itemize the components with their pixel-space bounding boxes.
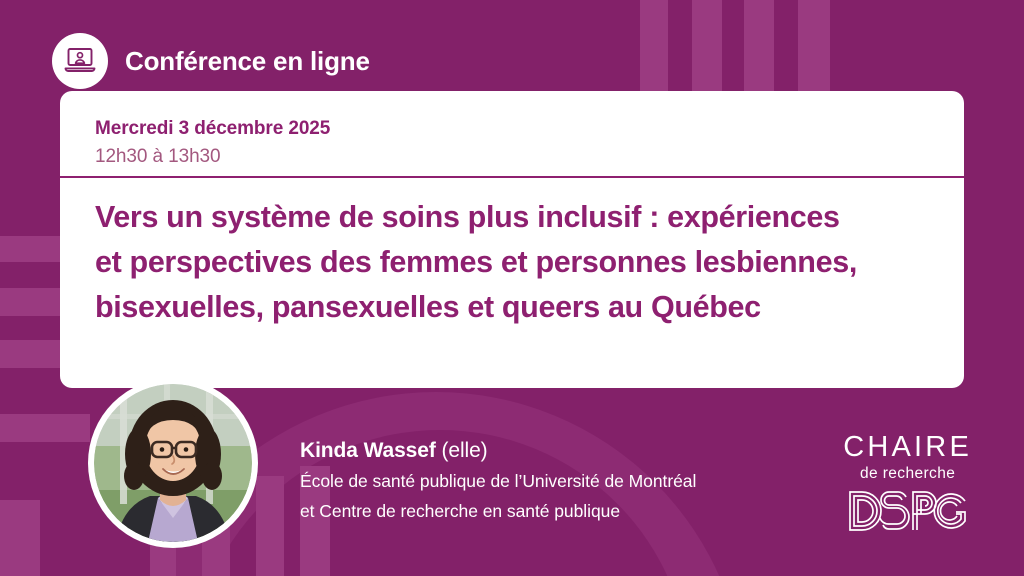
event-banner: Conférence en ligne Mercredi 3 décembre … xyxy=(0,0,1024,576)
event-title: Vers un système de soins plus inclusif :… xyxy=(95,195,934,330)
bg-vertical-stripe xyxy=(798,0,830,104)
speaker-name-line: Kinda Wassef (elle) xyxy=(300,437,696,465)
event-card: Mercredi 3 décembre 2025 12h30 à 13h30 V… xyxy=(60,91,964,388)
speaker-avatar xyxy=(88,378,258,548)
speaker-name: Kinda Wassef xyxy=(300,439,436,462)
speaker-affiliation-line: École de santé publique de l’Université … xyxy=(300,468,696,495)
online-conference-laptop-icon xyxy=(52,33,108,89)
bg-vertical-stripe xyxy=(256,476,284,576)
bg-vertical-stripe xyxy=(692,0,722,104)
bg-horizontal-stripe xyxy=(0,236,60,262)
chaire-dspg-logo: CHAIRE de recherche xyxy=(843,432,972,533)
speaker-photo xyxy=(94,384,252,542)
bg-horizontal-stripe xyxy=(0,288,60,316)
bg-horizontal-stripe xyxy=(0,414,90,442)
event-date: Mercredi 3 décembre 2025 xyxy=(95,118,964,141)
bg-horizontal-stripe xyxy=(0,340,60,368)
logo-line-subtitle: de recherche xyxy=(843,464,972,485)
speaker-info: Kinda Wassef (elle) École de santé publi… xyxy=(300,437,696,526)
logo-line-chaire: CHAIRE xyxy=(843,432,972,462)
event-title-line: bisexuelles, pansexuelles et queers au Q… xyxy=(95,285,934,330)
bg-vertical-stripe xyxy=(640,0,668,104)
speaker-pronoun: (elle) xyxy=(441,439,487,462)
header-title: Conférence en ligne xyxy=(125,46,370,77)
event-title-line: Vers un système de soins plus inclusif :… xyxy=(95,195,934,240)
bg-vertical-stripe xyxy=(0,500,40,576)
card-divider xyxy=(60,176,964,178)
date-time-block: Mercredi 3 décembre 2025 12h30 à 13h30 xyxy=(60,91,964,169)
event-title-line: et perspectives des femmes et personnes … xyxy=(95,240,934,285)
bg-vertical-stripe xyxy=(744,0,774,104)
speaker-affiliation-line: et Centre de recherche en santé publique xyxy=(300,498,696,525)
event-time: 12h30 à 13h30 xyxy=(95,145,964,170)
logo-line-dspg xyxy=(843,489,972,533)
banner-header: Conférence en ligne xyxy=(52,33,370,89)
